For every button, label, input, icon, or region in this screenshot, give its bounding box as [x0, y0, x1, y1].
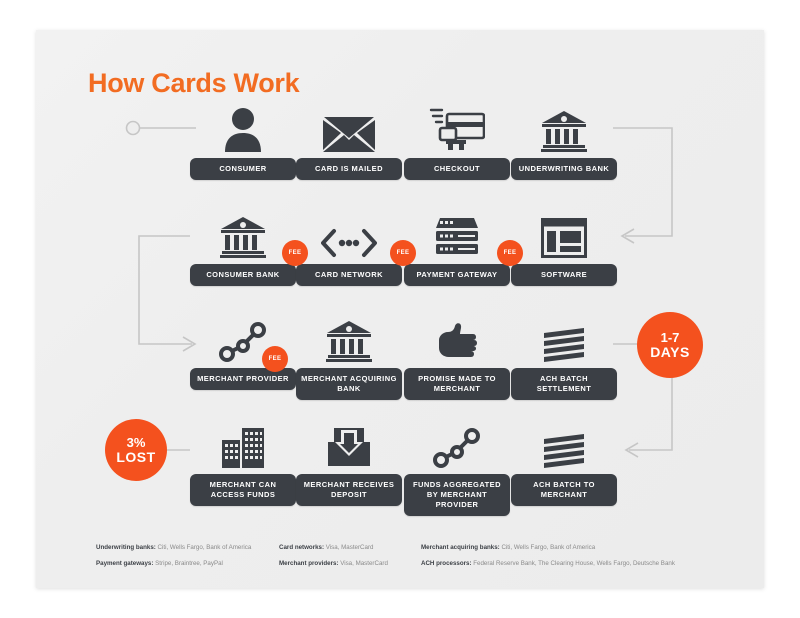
node-label: FUNDS AGGREGATED BY MERCHANT PROVIDER: [404, 474, 510, 516]
envelope-icon: [296, 104, 402, 152]
node-label: UNDERWRITING BANK: [511, 158, 617, 180]
infographic-canvas: How Cards Work: [0, 0, 800, 618]
fee-badge: FEE: [390, 240, 416, 266]
node-label: CONSUMER BANK: [190, 264, 296, 286]
footnote-term: Merchant providers:: [279, 560, 338, 567]
deposit-tray-icon: [296, 420, 402, 468]
node-software[interactable]: FEE SOFTWARE: [511, 210, 617, 286]
footnote-ach-processors: ACH processors: Federal Reserve Bank, Th…: [421, 559, 675, 568]
node-ach-batch-settlement[interactable]: ACH BATCH SETTLEMENT: [511, 314, 617, 400]
node-label: MERCHANT ACQUIRING BANK: [296, 368, 402, 400]
footnote-value: Citi, Wells Fargo, Bank of America: [156, 544, 251, 551]
node-merchant-receives-deposit[interactable]: MERCHANT RECEIVES DEPOSIT: [296, 420, 402, 506]
node-label: ACH BATCH SETTLEMENT: [511, 368, 617, 400]
node-label: CARD IS MAILED: [296, 158, 402, 180]
badge-lost-top: 3%: [127, 435, 146, 450]
node-label: MERCHANT CAN ACCESS FUNDS: [190, 474, 296, 506]
node-label: PAYMENT GATEWAY: [404, 264, 510, 286]
node-label: CARD NETWORK: [296, 264, 402, 286]
badge-3-percent-lost: 3% LOST: [105, 419, 167, 481]
node-consumer[interactable]: CONSUMER: [190, 104, 296, 180]
network-nodes-icon: [404, 420, 510, 468]
page-title: How Cards Work: [88, 68, 299, 99]
fee-badge: FEE: [262, 346, 288, 372]
person-icon: [190, 104, 296, 152]
footnote-term: Merchant acquiring banks:: [421, 544, 500, 551]
node-promise-made-to-merchant[interactable]: PROMISE MADE TO MERCHANT: [404, 314, 510, 400]
thumbs-up-icon: [404, 314, 510, 362]
node-label: ACH BATCH TO MERCHANT: [511, 474, 617, 506]
fee-badge: FEE: [497, 240, 523, 266]
badge-days-bottom: DAYS: [650, 345, 690, 360]
footnote-card-networks: Card networks: Visa, MasterCard: [279, 543, 373, 552]
node-label: CONSUMER: [190, 158, 296, 180]
footnote-underwriting-banks: Underwriting banks: Citi, Wells Fargo, B…: [96, 543, 251, 552]
badge-1-7-days: 1-7 DAYS: [637, 312, 703, 378]
buildings-icon: [190, 420, 296, 468]
footnote-term: Underwriting banks:: [96, 544, 156, 551]
node-funds-aggregated[interactable]: FUNDS AGGREGATED BY MERCHANT PROVIDER: [404, 420, 510, 516]
layers-icon: [511, 314, 617, 362]
exchange-arrows-icon: [296, 210, 402, 258]
node-payment-gateway[interactable]: FEE PAYM: [404, 210, 510, 286]
footnote-term: Card networks:: [279, 544, 324, 551]
fee-badge: FEE: [282, 240, 308, 266]
node-label: SOFTWARE: [511, 264, 617, 286]
card-swipe-icon: [404, 104, 510, 152]
footnote-value: Stripe, Braintree, PayPal: [153, 560, 222, 567]
node-label: PROMISE MADE TO MERCHANT: [404, 368, 510, 400]
bank-icon: [190, 210, 296, 258]
badge-days-top: 1-7: [661, 330, 680, 345]
layers-icon: [511, 420, 617, 468]
footnote-value: Federal Reserve Bank, The Clearing House…: [472, 560, 675, 567]
footnote-payment-gateways: Payment gateways: Stripe, Braintree, Pay…: [96, 559, 223, 568]
node-merchant-can-access-funds[interactable]: MERCHANT CAN ACCESS FUNDS: [190, 420, 296, 506]
node-label: MERCHANT PROVIDER: [190, 368, 296, 390]
footnote-value: Visa, MasterCard: [324, 544, 373, 551]
node-consumer-bank[interactable]: CONSUMER BANK: [190, 210, 296, 286]
badge-lost-bottom: LOST: [116, 450, 155, 465]
bank-icon: [296, 314, 402, 362]
node-merchant-acquiring-bank[interactable]: MERCHANT ACQUIRING BANK: [296, 314, 402, 400]
node-card-network[interactable]: FEE CARD NETWORK: [296, 210, 402, 286]
footnote-term: Payment gateways:: [96, 560, 153, 567]
browser-window-icon: [511, 210, 617, 258]
footnote-value: Citi, Wells Fargo, Bank of America: [500, 544, 595, 551]
node-underwriting-bank[interactable]: UNDERWRITING BANK: [511, 104, 617, 180]
node-checkout[interactable]: CHECKOUT: [404, 104, 510, 180]
bank-icon: [511, 104, 617, 152]
node-label: CHECKOUT: [404, 158, 510, 180]
footnote-merchant-providers: Merchant providers: Visa, MasterCard: [279, 559, 388, 568]
server-stack-icon: [404, 210, 510, 258]
footnote-value: Visa, MasterCard: [338, 560, 387, 567]
footnote-term: ACH processors:: [421, 560, 472, 567]
footnote-merchant-acquiring-banks: Merchant acquiring banks: Citi, Wells Fa…: [421, 543, 595, 552]
node-merchant-provider[interactable]: FEE MERCHANT PROVIDER: [190, 314, 296, 390]
node-label: MERCHANT RECEIVES DEPOSIT: [296, 474, 402, 506]
node-card-is-mailed[interactable]: CARD IS MAILED: [296, 104, 402, 180]
node-ach-batch-to-merchant[interactable]: ACH BATCH TO MERCHANT: [511, 420, 617, 506]
